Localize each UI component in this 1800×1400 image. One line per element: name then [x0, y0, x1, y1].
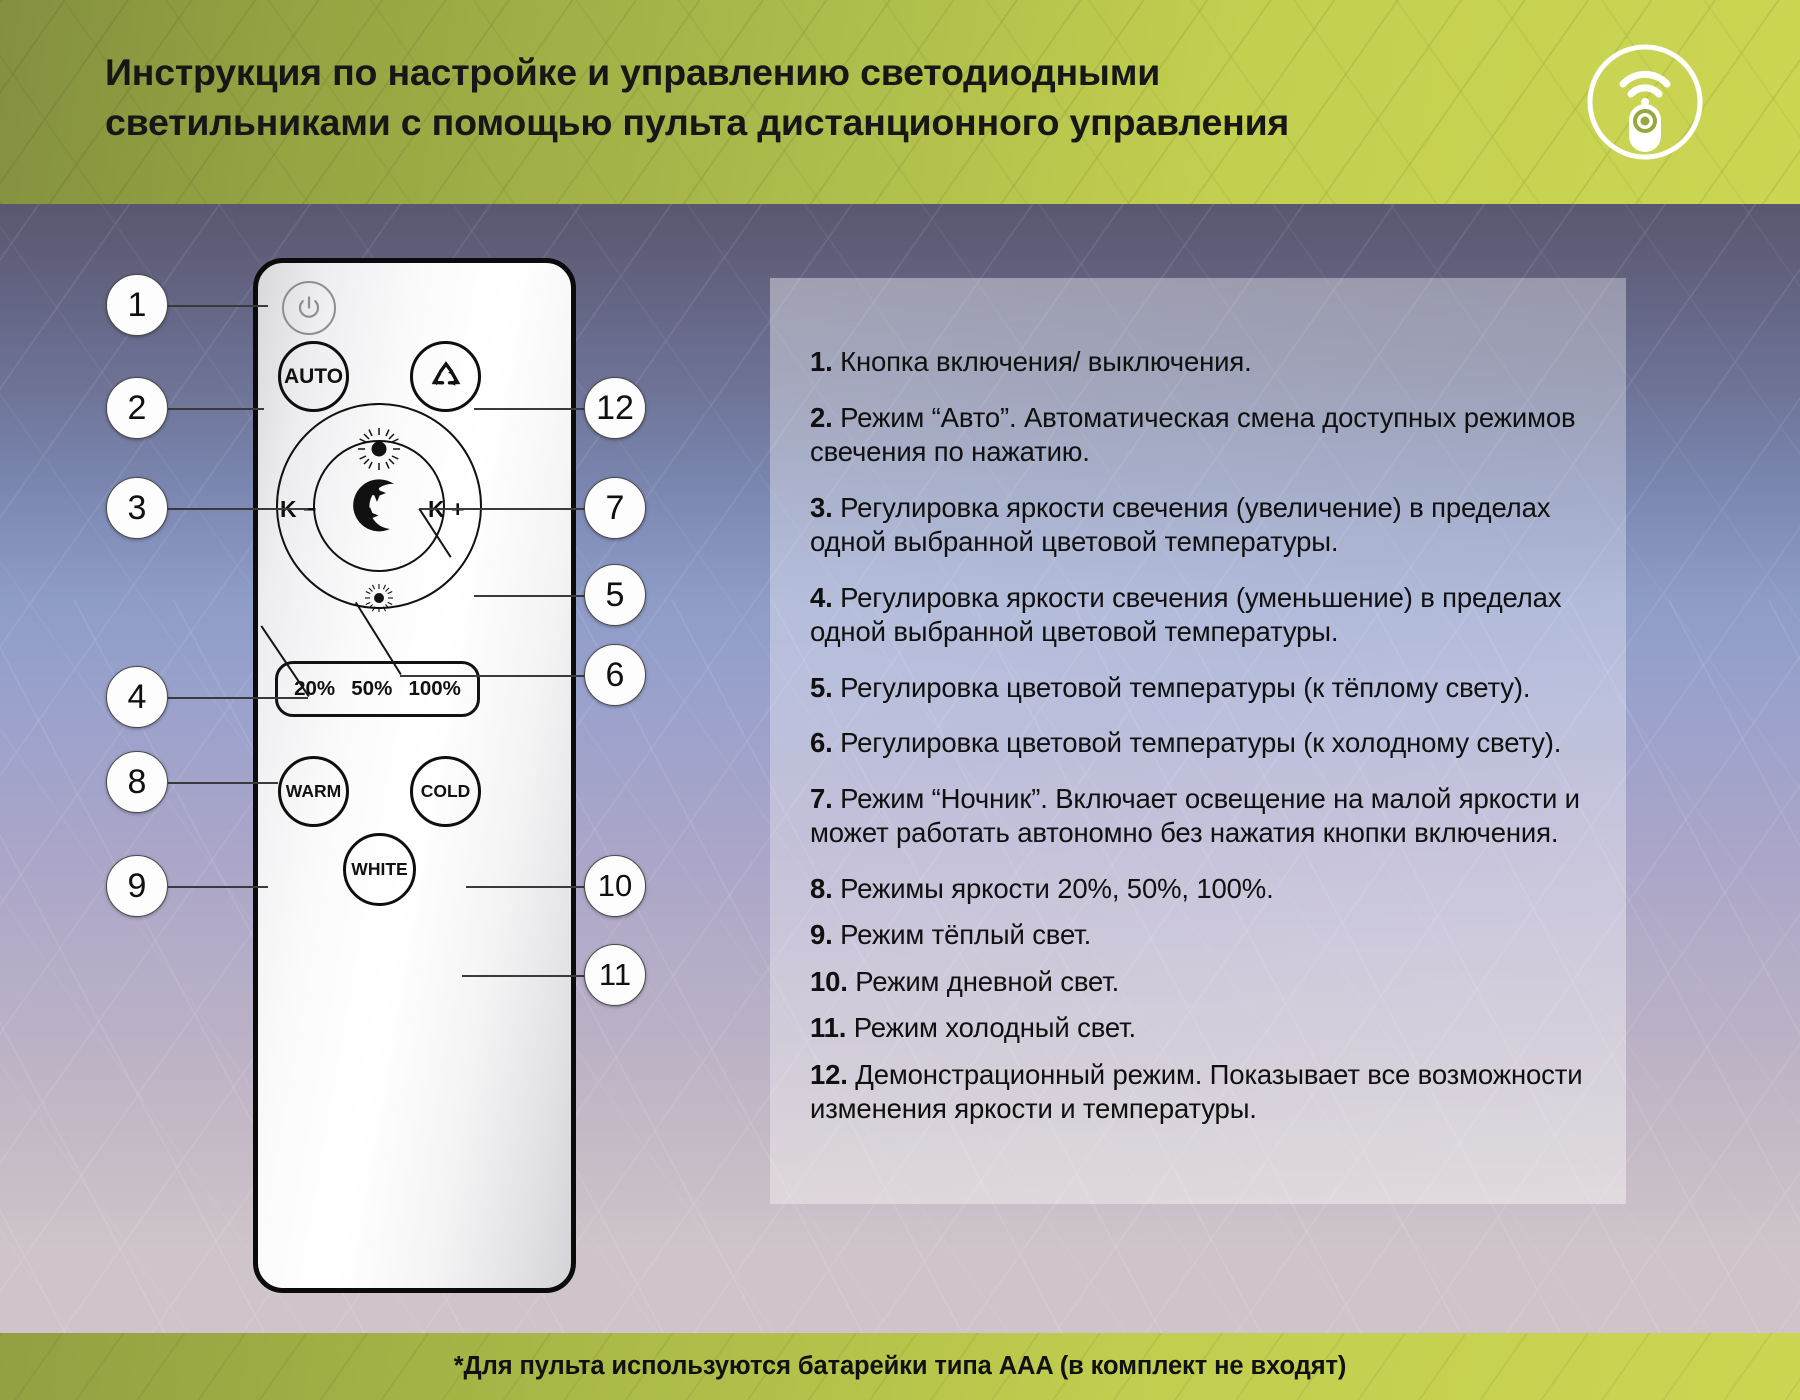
brightness-up-button[interactable]: [357, 427, 401, 471]
brightness-level-100[interactable]: 100%: [408, 677, 460, 701]
page-title-line1: Инструкция по настройке и управлению све…: [105, 48, 1485, 98]
list-item: 9. Режим тёплый свет.: [810, 918, 1610, 953]
leader-line-1: [168, 305, 268, 307]
leader-line-9: [168, 886, 268, 888]
legend-list: 1. Кнопка включения/ выключения. 2. Режи…: [810, 345, 1610, 1148]
legend-number: 2.: [810, 402, 833, 433]
leader-line-11: [462, 975, 584, 977]
legend-text: Демонстрационный режим. Показывает все в…: [810, 1059, 1582, 1125]
page-title-line2: светильниками с помощью пульта дистанцио…: [105, 98, 1485, 148]
footer-band: *Для пульта используются батарейки типа …: [0, 1333, 1800, 1400]
legend-number: 10.: [810, 966, 848, 997]
leader-line-7: [420, 508, 584, 510]
leader-line-12: [474, 408, 584, 410]
list-item: 4. Регулировка яркости свечения (уменьше…: [810, 581, 1610, 650]
power-button[interactable]: [282, 281, 336, 335]
legend-text: Регулировка яркости свечения (уменьшение…: [810, 582, 1561, 648]
legend-text: Режим “Авто”. Автоматическая смена досту…: [810, 402, 1576, 468]
sun-bright-icon: [357, 427, 401, 471]
list-item: 8. Режимы яркости 20%, 50%, 100%.: [810, 872, 1610, 907]
leader-line-3: [168, 508, 308, 510]
list-item: 12. Демонстрационный режим. Показывает в…: [810, 1058, 1610, 1127]
list-item: 6. Регулировка цветовой температуры (к х…: [810, 726, 1610, 761]
leader-line-4: [168, 697, 308, 699]
leader-line-2: [168, 408, 264, 410]
list-item: 1. Кнопка включения/ выключения.: [810, 345, 1610, 380]
recycle-loop-icon: [426, 357, 466, 397]
list-item: 10. Режим дневной свет.: [810, 965, 1610, 1000]
callout-5[interactable]: 5: [584, 564, 646, 626]
callout-6[interactable]: 6: [584, 644, 646, 706]
legend-number: 4.: [810, 582, 833, 613]
legend-number: 9.: [810, 919, 833, 950]
list-item: 11. Режим холодный свет.: [810, 1011, 1610, 1046]
legend-text: Режим дневной свет.: [848, 966, 1119, 997]
night-mode-button[interactable]: [344, 471, 414, 541]
remote-control-body: AUTO: [253, 258, 576, 1293]
brightness-down-button[interactable]: [364, 583, 394, 613]
brightness-levels-bar[interactable]: 20% 50% 100%: [275, 661, 480, 717]
legend-number: 7.: [810, 783, 833, 814]
white-button[interactable]: WHITE: [343, 833, 416, 906]
list-item: 5. Регулировка цветовой температуры (к т…: [810, 671, 1610, 706]
warm-button[interactable]: WARM: [278, 756, 349, 827]
sun-dim-icon: [364, 583, 394, 613]
leader-line-6: [400, 675, 584, 677]
legend-number: 11.: [810, 1012, 846, 1043]
brightness-level-50[interactable]: 50%: [351, 677, 392, 701]
leader-line-10: [466, 886, 584, 888]
cold-button[interactable]: COLD: [410, 756, 481, 827]
legend-number: 8.: [810, 873, 833, 904]
callout-7[interactable]: 7: [584, 477, 646, 539]
legend-text: Регулировка цветовой температуры (к тёпл…: [833, 672, 1531, 703]
list-item: 2. Режим “Авто”. Автоматическая смена до…: [810, 401, 1610, 470]
callout-8[interactable]: 8: [106, 751, 168, 813]
legend-number: 1.: [810, 346, 833, 377]
header-band: Инструкция по настройке и управлению све…: [0, 0, 1800, 204]
list-item: 7. Режим “Ночник”. Включает освещение на…: [810, 782, 1610, 851]
list-item: 3. Регулировка яркости свечения (увеличе…: [810, 491, 1610, 560]
legend-number: 3.: [810, 492, 833, 523]
legend-number: 12.: [810, 1059, 848, 1090]
leader-line-5: [474, 595, 584, 597]
footer-note: *Для пульта используются батарейки типа …: [0, 1333, 1800, 1400]
legend-number: 6.: [810, 727, 833, 758]
demo-cycle-button[interactable]: [410, 341, 481, 412]
callout-10[interactable]: 10: [584, 855, 646, 917]
legend-text: Режим “Ночник”. Включает освещение на ма…: [810, 783, 1580, 849]
callout-1[interactable]: 1: [106, 274, 168, 336]
auto-button[interactable]: AUTO: [278, 341, 349, 412]
callout-12[interactable]: 12: [584, 377, 646, 439]
callout-4[interactable]: 4: [106, 666, 168, 728]
legend-text: Регулировка цветовой температуры (к холо…: [833, 727, 1562, 758]
legend-text: Режимы яркости 20%, 50%, 100%.: [833, 873, 1274, 904]
callout-9[interactable]: 9: [106, 855, 168, 917]
legend-text: Кнопка включения/ выключения.: [833, 346, 1252, 377]
moon-stars-icon: [344, 471, 414, 541]
power-icon: [296, 295, 322, 321]
leader-line-8: [168, 782, 278, 784]
legend-text: Регулировка яркости свечения (увеличение…: [810, 492, 1550, 558]
legend-text: Режим тёплый свет.: [833, 919, 1091, 950]
callout-3[interactable]: 3: [106, 477, 168, 539]
remote-control-signal-icon: [1565, 38, 1725, 166]
callout-2[interactable]: 2: [106, 377, 168, 439]
page-title: Инструкция по настройке и управлению све…: [105, 48, 1485, 148]
legend-number: 5.: [810, 672, 833, 703]
callout-11[interactable]: 11: [584, 944, 646, 1006]
legend-text: Режим холодный свет.: [846, 1012, 1136, 1043]
